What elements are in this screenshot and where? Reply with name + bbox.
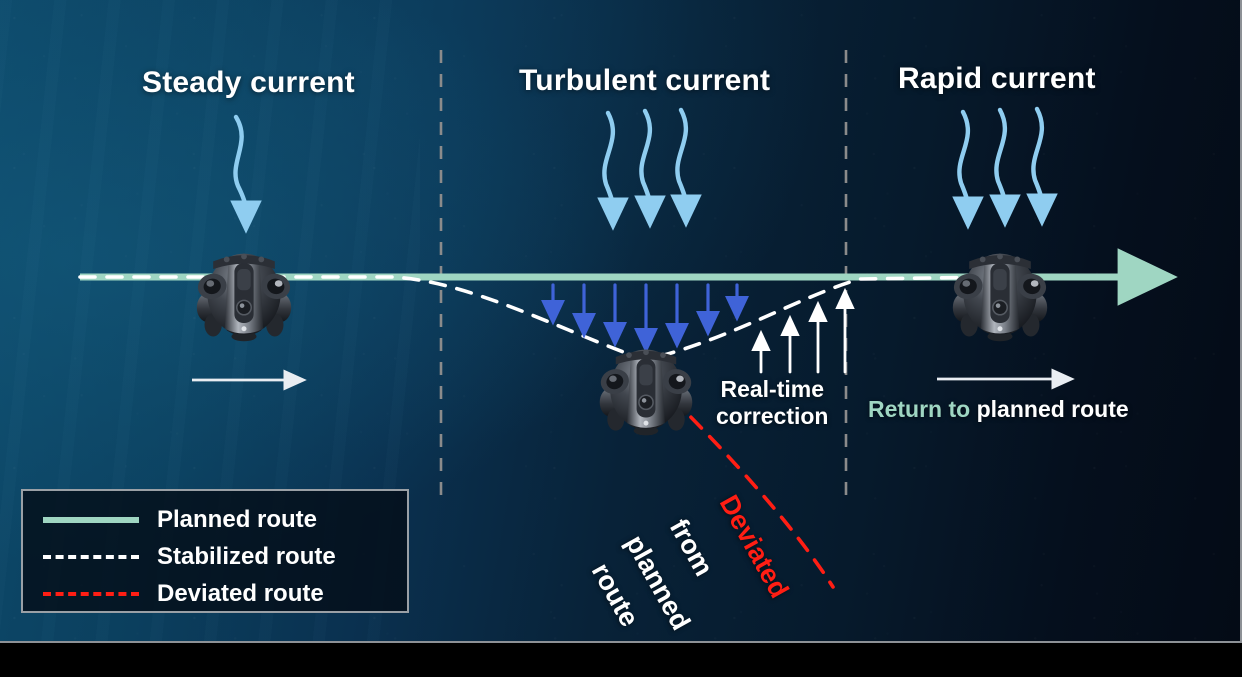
rov-deviated[interactable] (598, 349, 694, 435)
legend-label-deviated-route: Deviated route (157, 580, 324, 608)
rapid-current-arrows (959, 109, 1042, 206)
legend-swatch-planned-route (43, 517, 139, 523)
legend-label-planned-route: Planned route (157, 506, 317, 534)
correction-line-1: Real-time (720, 376, 824, 402)
legend-label-stabilized-route: Stabilized route (157, 543, 336, 571)
deviated-word-1: Deviated (713, 490, 795, 603)
correction-line-2: correction (716, 403, 828, 429)
diagram-canvas: Steady current Turbulent current Rapid c… (0, 0, 1242, 677)
turbulent-current-arrows (604, 110, 686, 207)
deviated-word-2: from (663, 514, 719, 582)
legend-item-planned: Planned route (23, 501, 407, 538)
legend-item-stabilized: Stabilized route (23, 538, 407, 575)
steady-current-arrows (235, 117, 246, 210)
return-to-planned-route-label: Return to planned route (868, 396, 1129, 423)
legend-item-deviated: Deviated route (23, 575, 407, 612)
real-time-correction-label: Real-time correction (716, 376, 828, 429)
legend-box: Planned route Stabilized route Deviated … (21, 489, 409, 613)
legend-swatch-stabilized-route (43, 555, 139, 559)
zone-title-turbulent: Turbulent current (519, 64, 770, 98)
zone-title-rapid: Rapid current (898, 62, 1096, 96)
legend-swatch-deviated-route (43, 592, 139, 596)
underwater-scene: Steady current Turbulent current Rapid c… (0, 0, 1242, 643)
zone-title-steady: Steady current (142, 66, 355, 100)
return-rest: planned route (977, 396, 1129, 422)
rov-returned[interactable] (951, 254, 1049, 342)
deviated-annotation: Deviated from planned route (612, 486, 872, 643)
rov-steady[interactable] (195, 254, 293, 342)
return-highlight: Return to (868, 396, 970, 422)
downward-force-arrows (553, 285, 737, 335)
